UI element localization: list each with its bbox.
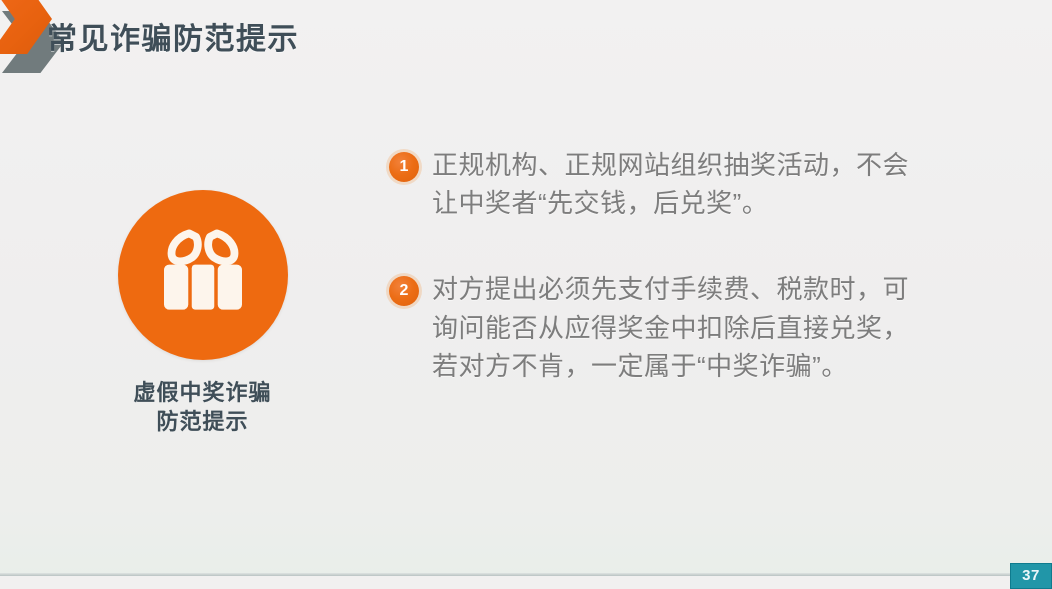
video-player-bar[interactable] bbox=[0, 576, 1052, 589]
bullet-text-2: 对方提出必须先支付手续费、税款时，可询问能否从应得奖金中扣除后直接兑奖，若对方不… bbox=[432, 270, 934, 385]
icon-panel: 虚假中奖诈骗 防范提示 bbox=[100, 190, 305, 436]
gift-icon-badge bbox=[118, 190, 288, 360]
list-item: 2 对方提出必须先支付手续费、税款时，可询问能否从应得奖金中扣除后直接兑奖，若对… bbox=[389, 270, 934, 385]
bullet-number-badge-1: 1 bbox=[389, 152, 419, 182]
presentation-slide: 常见诈骗防范提示 虚假中奖诈骗 防范提示 1 正规机构、正 bbox=[0, 0, 1052, 589]
bullet-text-1: 正规机构、正规网站组织抽奖活动，不会让中奖者“先交钱，后兑奖”。 bbox=[432, 146, 934, 222]
page-title: 常见诈骗防范提示 bbox=[47, 14, 299, 58]
icon-caption: 虚假中奖诈骗 防范提示 bbox=[100, 378, 305, 436]
bullet-number-badge-2: 2 bbox=[389, 276, 419, 306]
icon-caption-line-2: 防范提示 bbox=[100, 407, 305, 436]
page-number-badge: 37 bbox=[1010, 563, 1052, 589]
bullet-list: 1 正规机构、正规网站组织抽奖活动，不会让中奖者“先交钱，后兑奖”。 2 对方提… bbox=[389, 146, 934, 385]
icon-caption-line-1: 虚假中奖诈骗 bbox=[100, 378, 305, 407]
list-item: 1 正规机构、正规网站组织抽奖活动，不会让中奖者“先交钱，后兑奖”。 bbox=[389, 146, 934, 222]
gift-box-icon bbox=[151, 223, 255, 327]
